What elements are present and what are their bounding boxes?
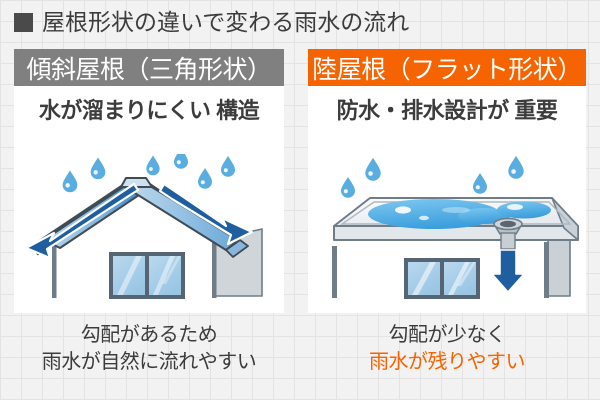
caption-flat-roof-line1: 勾配が少なく <box>308 322 586 349</box>
illustration-gabled-house <box>14 154 284 313</box>
panel-sloped-roof: 水が溜まりにくい 構造 <box>14 86 284 313</box>
raindrop-group <box>341 156 524 198</box>
panel-sloped-roof-title: 水が溜まりにくい 構造 <box>14 98 284 124</box>
house-window <box>109 252 185 299</box>
square-bullet-icon <box>14 13 33 32</box>
panel-flat-roof: 防水・排水設計が 重要 <box>308 86 586 313</box>
caption-sloped-roof: 勾配があるため 雨水が自然に流れやすい <box>14 322 284 376</box>
page-heading: 屋根形状の違いで変わる雨水の流れ <box>14 11 409 34</box>
building-window <box>404 258 480 299</box>
caption-flat-roof-line2: 雨水が残りやすい <box>308 349 586 376</box>
caption-sloped-roof-line1: 勾配があるため <box>14 322 284 349</box>
badge-sloped-roof: 傾斜屋根（三角形状） <box>14 49 284 86</box>
panel-sloped-roof-title-line1: 水が溜まりにくい <box>39 98 211 123</box>
caption-flat-roof: 勾配が少なく 雨水が残りやすい <box>308 322 586 376</box>
infographic-root: 屋根形状の違いで変わる雨水の流れ 傾斜屋根（三角形状） 陸屋根（フラット形状） … <box>0 0 600 400</box>
badge-flat-roof-label: 陸屋根（フラット形状） <box>312 50 582 86</box>
caption-sloped-roof-line2: 雨水が自然に流れやすい <box>14 349 284 376</box>
badge-sloped-roof-label: 傾斜屋根（三角形状） <box>26 50 271 86</box>
panel-flat-roof-title-line1: 防水・排水設計が <box>337 98 509 123</box>
illustration-flat-roof-house <box>308 154 586 313</box>
page-title: 屋根形状の違いで変わる雨水の流れ <box>42 11 409 34</box>
badge-flat-roof: 陸屋根（フラット形状） <box>308 49 586 86</box>
panel-flat-roof-title: 防水・排水設計が 重要 <box>308 98 586 124</box>
panel-flat-roof-title-line2: 重要 <box>514 98 557 123</box>
panel-sloped-roof-title-line2: 構造 <box>216 98 259 123</box>
